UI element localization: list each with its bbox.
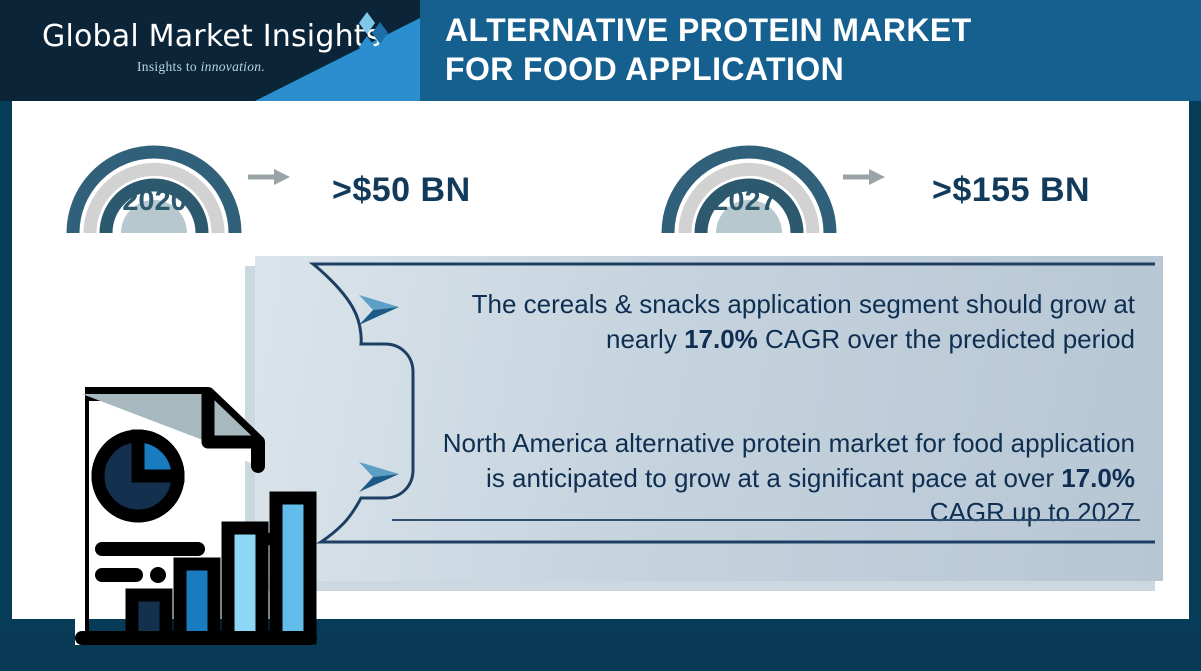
metric-year-2027: 2027 xyxy=(652,185,837,218)
content-canvas: 2020 >$50 BN 2027 >$155 BN xyxy=(12,101,1189,619)
brand-logo-tagline: Insights to innovation. xyxy=(42,59,382,75)
list-item: North America alternative protein market… xyxy=(357,410,1147,586)
chevron-right-marker-icon xyxy=(357,287,429,332)
brand-logo-name: Global Market Insights xyxy=(42,22,382,52)
header-brand-block: Global Market Insights Insights to innov… xyxy=(0,0,420,101)
bullet-1-highlight: 17.0% xyxy=(684,324,758,354)
insights-panel: The cereals & snacks application segment… xyxy=(12,251,1189,619)
arrow-right-icon-2020 xyxy=(248,169,290,185)
page-title-line-2: FOR FOOD APPLICATION xyxy=(445,50,1165,89)
bullet-2-post: CAGR up to 2027 xyxy=(930,497,1135,527)
bullet-list: The cereals & snacks application segment… xyxy=(357,271,1147,571)
document-chart-icon xyxy=(60,376,340,671)
metric-value-2027: >$155 BN xyxy=(932,171,1090,210)
page-title: ALTERNATIVE PROTEIN MARKET FOR FOOD APPL… xyxy=(445,11,1165,90)
metric-value-2020: >$50 BN xyxy=(332,171,471,210)
infographic-page: Global Market Insights Insights to innov… xyxy=(0,0,1201,630)
bullet-2-highlight: 17.0% xyxy=(1061,463,1135,493)
metrics-row: 2020 >$50 BN 2027 >$155 BN xyxy=(12,101,1189,251)
bullet-text-1: The cereals & snacks application segment… xyxy=(429,287,1147,356)
metric-year-2020: 2020 xyxy=(62,185,247,218)
bullet-2-pre: North America alternative protein market… xyxy=(443,428,1135,493)
bullet-text-2: North America alternative protein market… xyxy=(429,426,1147,530)
header-bar: Global Market Insights Insights to innov… xyxy=(0,0,1201,101)
logo-diamonds-icon xyxy=(355,12,389,68)
tagline-plain: Insights to xyxy=(137,59,201,74)
bullet-1-post: CAGR over the predicted period xyxy=(758,324,1135,354)
tagline-italic: innovation. xyxy=(201,59,265,74)
arrow-right-icon-2027 xyxy=(843,169,885,185)
list-item: The cereals & snacks application segment… xyxy=(357,271,1147,410)
chevron-right-marker-icon xyxy=(357,426,429,499)
brand-logo: Global Market Insights Insights to innov… xyxy=(42,22,382,84)
bullet-divider xyxy=(392,519,1140,521)
page-title-line-1: ALTERNATIVE PROTEIN MARKET xyxy=(445,11,1165,50)
